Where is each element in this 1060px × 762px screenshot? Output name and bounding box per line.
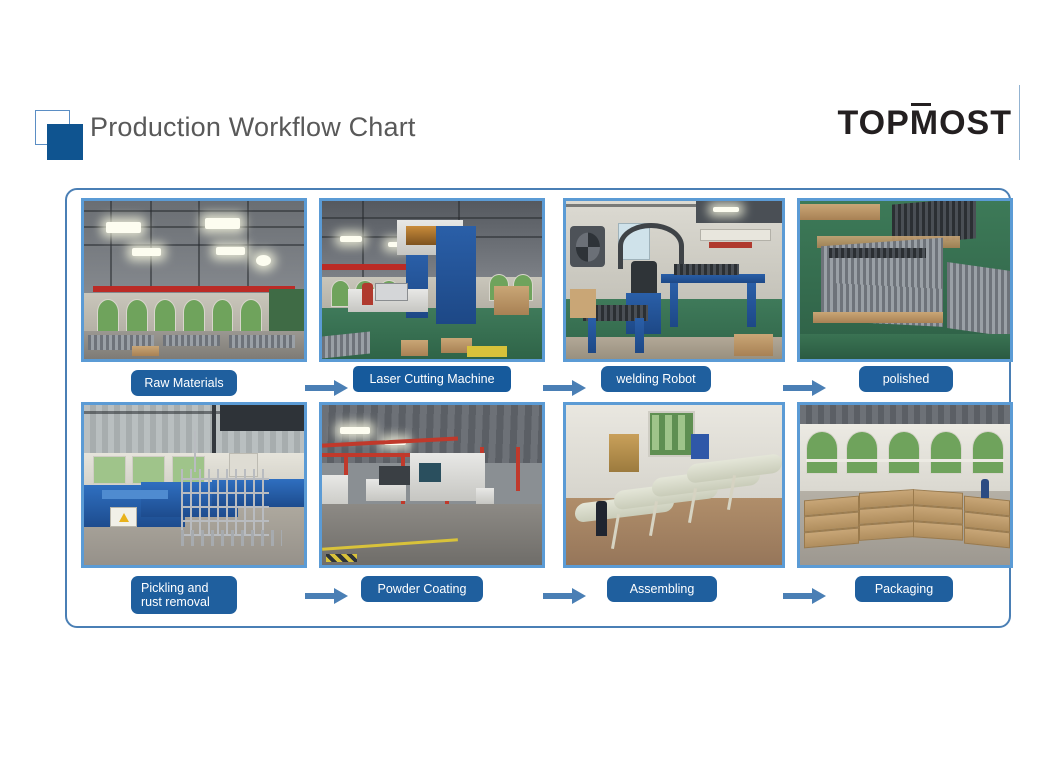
workflow-label-polished[interactable]: polished [859,366,953,392]
workflow-step-assembling[interactable]: Assembling [563,402,785,602]
workflow-step-welding-robot[interactable]: welding Robot [563,198,785,398]
polished-parts-photo [797,198,1013,362]
workflow-label-pickling-rust-removal[interactable]: Pickling and rust removal [131,576,237,614]
workflow-row-1: Raw Materials [67,198,1013,398]
workflow-frame: Raw Materials [65,188,1011,628]
workflow-label-powder-coating[interactable]: Powder Coating [361,576,483,602]
workflow-label-welding-robot[interactable]: welding Robot [601,366,711,392]
workflow-step-pickling-rust-removal[interactable]: Pickling and rust removal [81,402,307,602]
welding-robot-photo [563,198,785,362]
square-logo-icon [35,110,87,162]
workflow-label-laser-cutting-machine[interactable]: Laser Cutting Machine [353,366,511,392]
workflow-step-powder-coating[interactable]: Powder Coating [319,402,545,602]
workflow-row-2: Pickling and rust removal [67,402,1013,602]
brand-logo: TOPMOST [837,104,1012,143]
workflow-label-packaging[interactable]: Packaging [855,576,953,602]
brand-divider [1019,85,1020,160]
raw-materials-photo [81,198,307,362]
workflow-step-laser-cutting-machine[interactable]: Laser Cutting Machine [319,198,545,398]
workflow-label-raw-materials[interactable]: Raw Materials [131,370,237,396]
pickling-rust-removal-photo [81,402,307,568]
brand-text-after: OST [939,104,1012,142]
assembling-photo [563,402,785,568]
brand-m-letter: M [910,104,939,142]
page-title: Production Workflow Chart [90,112,416,143]
workflow-label-assembling[interactable]: Assembling [607,576,717,602]
laser-cutting-machine-photo [319,198,545,362]
logo-solid-square [47,124,83,160]
brand-text-before: TOP [837,104,909,142]
powder-coating-photo [319,402,545,568]
packaging-photo [797,402,1013,568]
workflow-step-polished[interactable]: polished [797,198,1013,398]
brand-m-bar [911,103,931,106]
page-header: Production Workflow Chart TOPMOST [0,0,1060,180]
workflow-step-raw-materials[interactable]: Raw Materials [81,198,307,398]
brand-m-glyph: M [910,104,939,143]
workflow-step-packaging[interactable]: Packaging [797,402,1013,602]
